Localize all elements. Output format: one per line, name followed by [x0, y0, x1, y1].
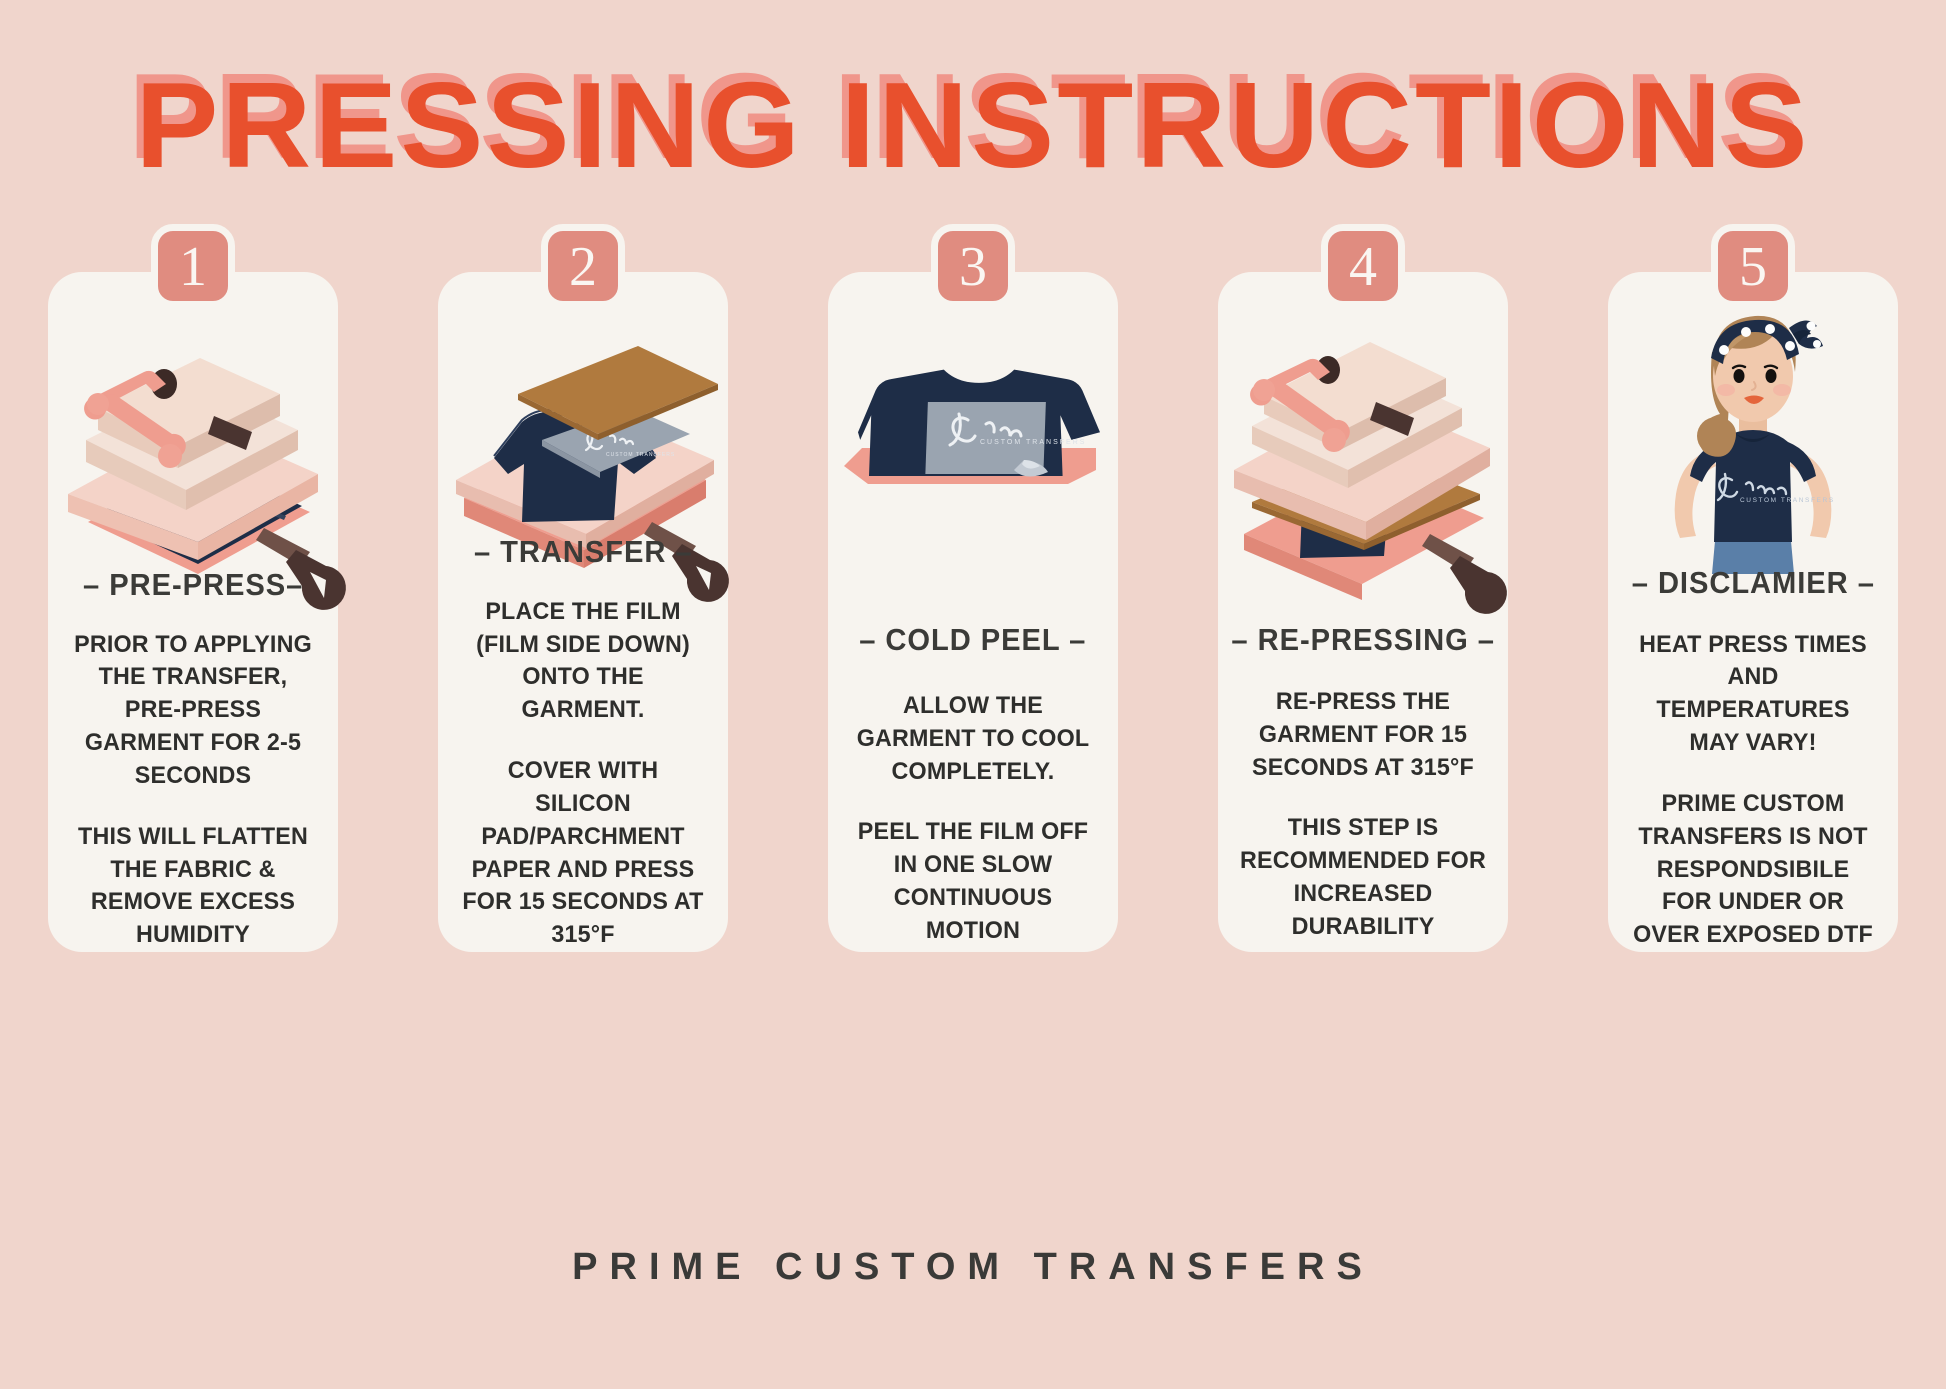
svg-text:CUSTOM TRANSFERS: CUSTOM TRANSFERS: [980, 439, 1086, 446]
step-body-2: PLACE THE FILM (FILM SIDE DOWN) ONTO THE…: [438, 596, 728, 952]
page-title-front: PRESSING INSTRUCTIONS: [0, 55, 1946, 195]
svg-text:CUSTOM TRANSFERS: CUSTOM TRANSFERS: [606, 452, 675, 458]
step-paragraph: HEAT PRESS TIMES AND TEMPERATURES MAY VA…: [1629, 629, 1878, 760]
step-paragraph: THIS STEP IS RECOMMENDED FOR INCREASED D…: [1239, 812, 1488, 943]
step-heading-1: – PRE-PRESS–: [83, 567, 303, 603]
woman-wearing-tshirt-illustration: CUSTOM TRANSFERS: [1608, 284, 1898, 527]
step-card-2: 2: [438, 272, 728, 952]
peeling-film-garment-illustration: CUSTOM TRANSFERS: [828, 284, 1118, 584]
brand-footer: PRIME CUSTOM TRANSFERS: [0, 1246, 1946, 1289]
step-paragraph: PEEL THE FILM OFF IN ONE SLOW CONTINUOUS…: [849, 816, 1098, 947]
step-body-4: RE-PRESS THE GARMENT FOR 15 SECONDS AT 3…: [1218, 686, 1508, 944]
step-card-4: 4: [1218, 272, 1508, 952]
step-card-3: 3 CUSTOM TRANSFERS: [828, 272, 1118, 952]
step-paragraph: THIS WILL FLATTEN THE FABRIC & REMOVE EX…: [69, 821, 318, 952]
step-paragraph: ALLOW THE GARMENT TO COOL COMPLETELY.: [849, 690, 1098, 788]
step-paragraph: PRIME CUSTOM TRANSFERS IS NOT RESPONDSIB…: [1629, 788, 1878, 952]
step-body-3: ALLOW THE GARMENT TO COOL COMPLETELY. PE…: [828, 690, 1118, 948]
step-card-1: 1: [48, 272, 338, 952]
step-body-1: PRIOR TO APPLYING THE TRANSFER, PRE-PRES…: [48, 629, 338, 952]
step-paragraph: COVER WITH SILICON PAD/PARCHMENT PAPER A…: [459, 755, 708, 952]
heat-press-open-illustration: [48, 284, 338, 529]
step-heading-5: – DISCLAMIER –: [1631, 565, 1874, 601]
step-heading-2: – TRANSFER –: [474, 534, 693, 570]
parchment-over-garment-illustration: CUSTOM TRANSFERS: [438, 284, 728, 496]
step-heading-4: – RE-PRESSING –: [1231, 622, 1494, 658]
steps-container: 1: [48, 272, 1898, 952]
step-body-5: HEAT PRESS TIMES AND TEMPERATURES MAY VA…: [1608, 629, 1898, 952]
step-paragraph: PLACE THE FILM (FILM SIDE DOWN) ONTO THE…: [459, 596, 708, 727]
svg-text:CUSTOM TRANSFERS: CUSTOM TRANSFERS: [1740, 497, 1835, 504]
page-title: PRESSING INSTRUCTIONS PRESSING INSTRUCTI…: [0, 46, 1946, 186]
step-paragraph: PRIOR TO APPLYING THE TRANSFER, PRE-PRES…: [69, 629, 318, 793]
step-card-5: 5: [1608, 272, 1898, 952]
step-heading-3: – COLD PEEL –: [859, 622, 1086, 658]
step-paragraph: RE-PRESS THE GARMENT FOR 15 SECONDS AT 3…: [1239, 686, 1488, 784]
heat-press-repress-illustration: [1218, 284, 1508, 584]
